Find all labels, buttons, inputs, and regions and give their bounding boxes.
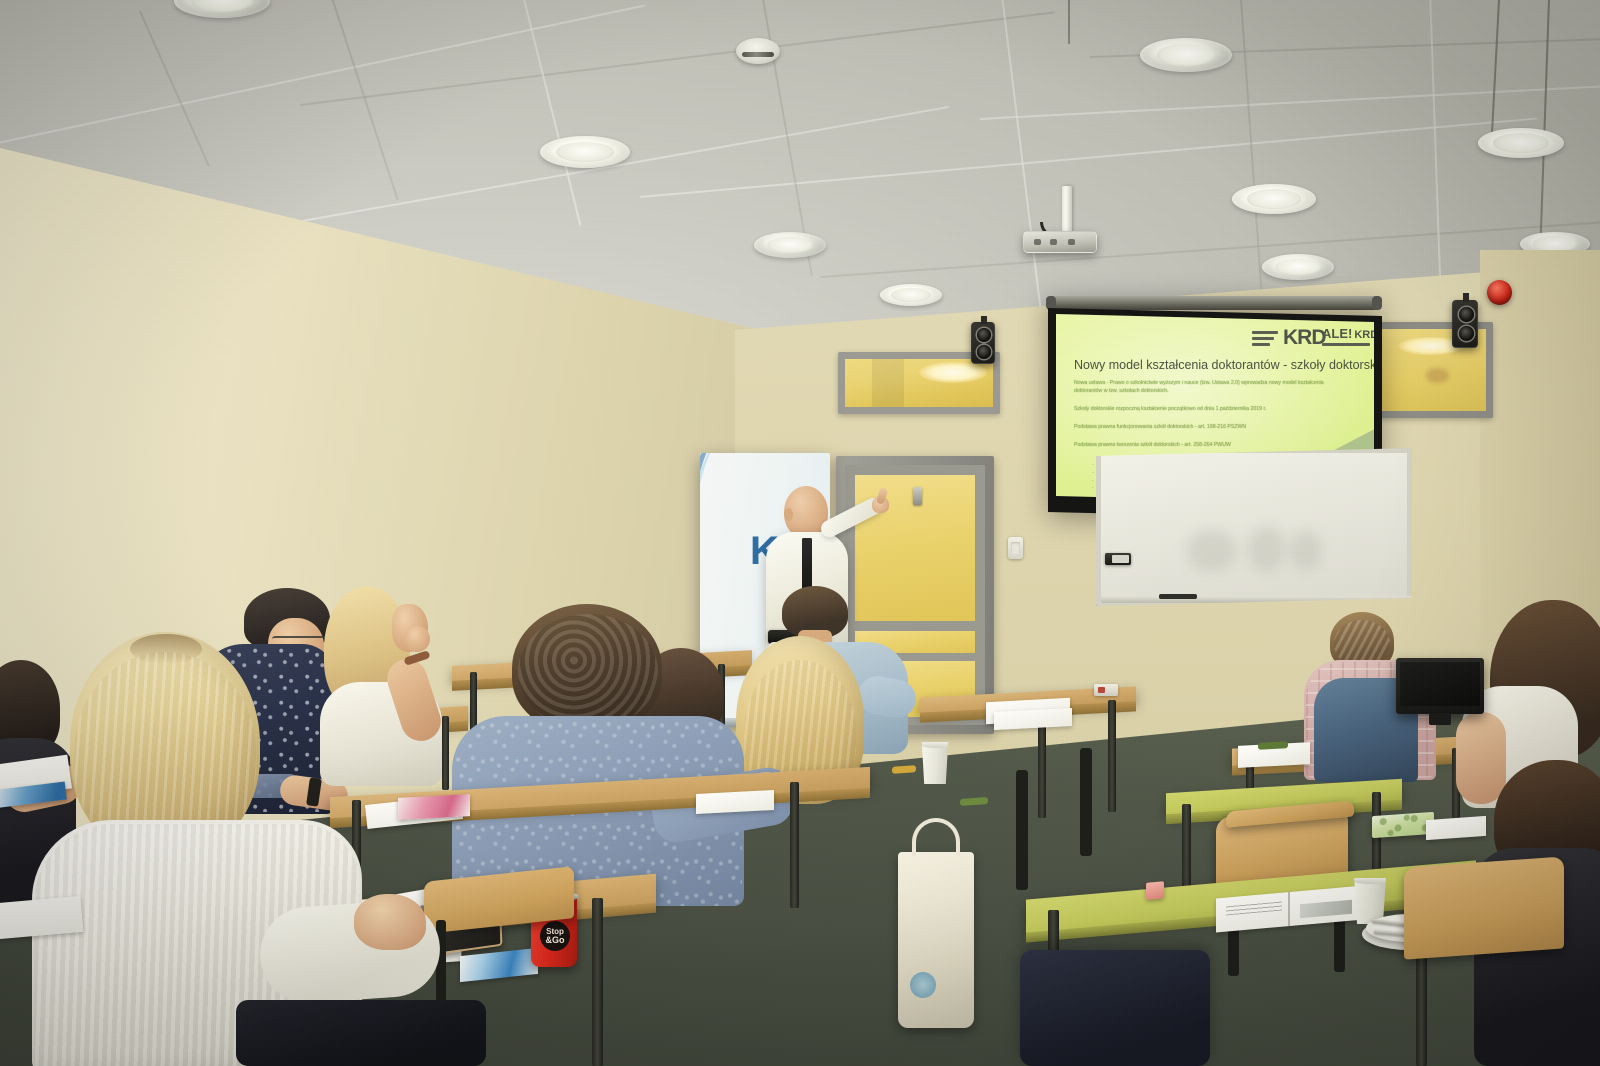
desk-leg [1108, 700, 1116, 812]
whiteboard-marker[interactable] [1159, 594, 1197, 599]
canvas-tote-bag [898, 852, 974, 1028]
krd-logo-bars [1252, 331, 1278, 346]
ceiling-light [754, 232, 826, 258]
tote-bag-print [910, 972, 936, 998]
papers [1426, 816, 1486, 840]
ale-krd-logo-suffix: KRD [1354, 329, 1374, 341]
presenter-ear [784, 508, 793, 521]
door-handle[interactable] [913, 487, 922, 505]
slide-paragraph-3: Podstawa prawna funkcjonowania szkół dok… [1074, 424, 1334, 432]
brochure-fold-line [1288, 892, 1290, 926]
pink-sticky-note [1146, 881, 1164, 900]
bag-on-floor [236, 1000, 486, 1066]
krd-logo-text: KRD [1283, 326, 1326, 350]
papers [696, 790, 774, 814]
classroom-presentation-photo: KRD ALE! KRD Nowy model kształcenia dokt… [0, 0, 1600, 1066]
attendee-curly-man [452, 604, 782, 904]
desk-leg [790, 782, 799, 908]
ceiling-light [1478, 128, 1564, 158]
chair-frame [1016, 770, 1028, 890]
power-outlet-indicator [1098, 687, 1105, 693]
whiteboard-eraser[interactable] [1105, 553, 1131, 565]
bag-on-floor [1020, 950, 1210, 1066]
slide-paragraph-2: Szkoły doktorskie rozpoczną kształcenie … [1074, 406, 1352, 414]
fire-alarm-bell-icon [1487, 280, 1512, 305]
desk-leg [592, 898, 603, 1066]
light-switch[interactable] [1008, 537, 1023, 559]
slide-paragraph-4: Podstawa prawna tworzenia szkół doktorsk… [1074, 442, 1324, 450]
chair[interactable] [1404, 856, 1564, 959]
cup-brand-badge: Stop &Go [540, 921, 570, 951]
green-patterned-book [1372, 812, 1434, 838]
ceiling-light [1232, 184, 1316, 214]
attendee-hand [354, 894, 426, 950]
krd-logo: KRD [1252, 326, 1326, 350]
attendee-hair-curls [518, 614, 658, 730]
ceiling-light [1262, 254, 1334, 280]
ceiling-light [540, 136, 630, 168]
whiteboard [1096, 448, 1412, 606]
cup-brand-line2: &Go [546, 936, 565, 945]
computer-monitor [1396, 658, 1484, 714]
ceiling-light [1140, 38, 1232, 72]
transom-window-glass [845, 359, 993, 407]
ceiling-projector [1023, 231, 1097, 253]
screen-roller-housing[interactable] [1046, 296, 1382, 310]
white-plastic-cup[interactable] [920, 742, 950, 784]
chair-frame [1080, 748, 1092, 856]
ceiling-light [880, 284, 942, 306]
ale-krd-logo: ALE! KRD [1322, 326, 1370, 346]
wall-speaker-right [1452, 300, 1478, 348]
slide-paragraph-1: Nowa ustawa - Prawo o szkolnictwie wyższ… [1074, 380, 1346, 395]
ale-krd-logo-prefix: ALE! [1322, 326, 1352, 341]
slide-title: Nowy model kształcenia doktorantów - szk… [1074, 358, 1374, 372]
wall-speaker-left [971, 322, 995, 364]
smoke-detector-icon [736, 38, 780, 64]
